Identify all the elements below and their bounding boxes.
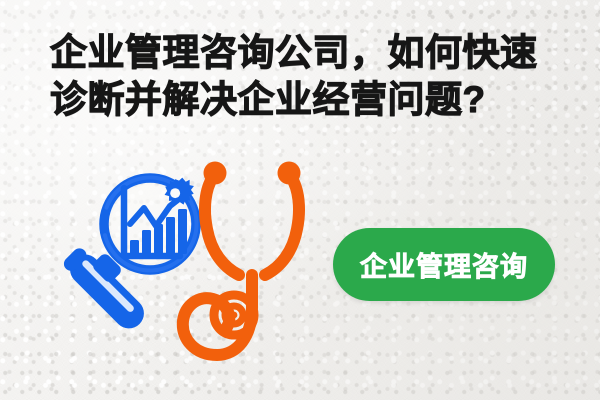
poster-canvas: 企业管理咨询公司，如何快速 诊断并解决企业经营问题? xyxy=(0,0,600,400)
cta-button[interactable]: 企业管理咨询 xyxy=(333,228,555,301)
cta-button-label: 企业管理咨询 xyxy=(360,245,528,284)
headline-line-2: 诊断并解决企业经营问题? xyxy=(50,76,562,123)
earpiece-left xyxy=(204,162,227,185)
page-title: 企业管理咨询公司，如何快速 诊断并解决企业经营问题? xyxy=(50,29,562,123)
headline-line-1: 企业管理咨询公司，如何快速 xyxy=(50,29,562,76)
earpiece-right xyxy=(278,162,301,185)
stethoscope-icon xyxy=(165,155,340,370)
